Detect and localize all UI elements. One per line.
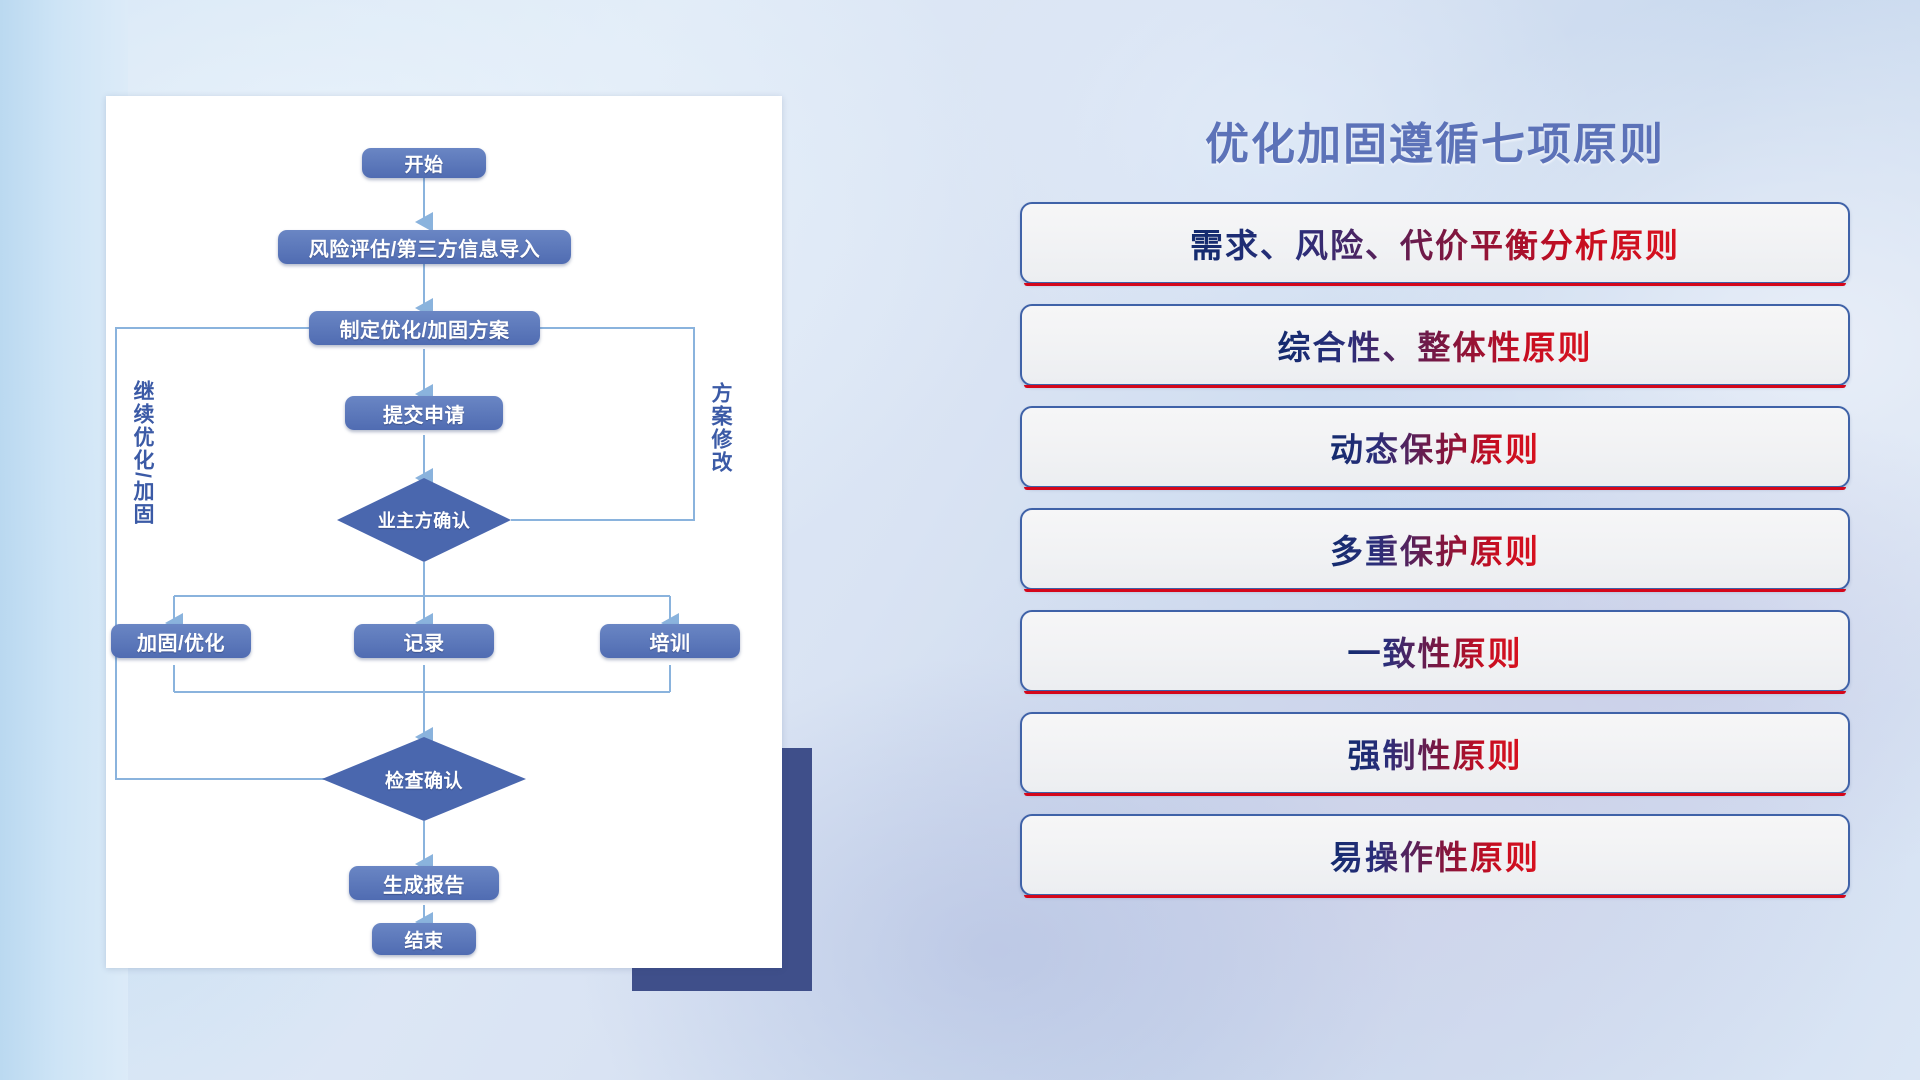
flow-node-label: 培训 xyxy=(650,627,691,656)
flow-node-risk-assessment[interactable]: 风险评估/第三方信息导入 xyxy=(278,230,571,264)
flow-edge-label-continue-optimize: 继续优化/加固 xyxy=(131,380,153,526)
principle-card[interactable]: 易操作性原则 xyxy=(1020,814,1850,896)
flow-node-label: 业主方确认 xyxy=(378,507,471,533)
flow-node-label: 制定优化/加固方案 xyxy=(339,314,509,343)
flow-edge-label-plan-revision: 方案修改 xyxy=(709,382,731,474)
principle-card[interactable]: 需求、风险、代价平衡分析原则 xyxy=(1020,202,1850,284)
principle-label: 动态保护原则 xyxy=(1330,423,1540,471)
flow-node-label: 风险评估/第三方信息导入 xyxy=(309,233,541,262)
flow-node-end[interactable]: 结束 xyxy=(372,923,476,955)
principle-card[interactable]: 多重保护原则 xyxy=(1020,508,1850,590)
principles-list: 需求、风险、代价平衡分析原则 综合性、整体性原则 动态保护原则 多重保护原则 一… xyxy=(1020,202,1850,916)
flow-node-label: 开始 xyxy=(404,150,443,177)
flow-node-label: 提交申请 xyxy=(383,399,465,428)
flow-node-label: 记录 xyxy=(404,627,445,656)
flow-node-label: 加固/优化 xyxy=(137,627,225,656)
flow-node-record[interactable]: 记录 xyxy=(354,624,494,658)
flow-node-owner-confirm[interactable]: 业主方确认 xyxy=(337,504,511,536)
flow-node-check-confirm[interactable]: 检查确认 xyxy=(337,763,511,795)
principles-panel: 优化加固遵循七项原则 需求、风险、代价平衡分析原则 综合性、整体性原则 动态保护… xyxy=(1020,92,1850,1012)
principle-label: 需求、风险、代价平衡分析原则 xyxy=(1190,219,1680,267)
flow-node-start[interactable]: 开始 xyxy=(362,148,486,178)
principle-label: 一致性原则 xyxy=(1348,627,1523,675)
principle-label: 多重保护原则 xyxy=(1330,525,1540,573)
flow-node-reinforce[interactable]: 加固/优化 xyxy=(111,624,251,658)
flowchart-panel: 开始 风险评估/第三方信息导入 制定优化/加固方案 提交申请 业主方确认 加固/… xyxy=(106,96,782,968)
flow-node-label: 检查确认 xyxy=(385,766,463,793)
principle-card[interactable]: 一致性原则 xyxy=(1020,610,1850,692)
flow-node-label: 结束 xyxy=(404,926,443,953)
principle-label: 强制性原则 xyxy=(1348,729,1523,777)
principle-card[interactable]: 强制性原则 xyxy=(1020,712,1850,794)
page-title: 优化加固遵循七项原则 xyxy=(1020,108,1850,172)
principle-label: 易操作性原则 xyxy=(1330,831,1540,879)
flow-node-submit[interactable]: 提交申请 xyxy=(345,396,503,430)
principle-card[interactable]: 动态保护原则 xyxy=(1020,406,1850,488)
flow-node-plan[interactable]: 制定优化/加固方案 xyxy=(309,311,540,345)
flow-node-label: 生成报告 xyxy=(383,869,465,898)
principle-label: 综合性、整体性原则 xyxy=(1278,321,1593,369)
flow-node-generate-report[interactable]: 生成报告 xyxy=(349,866,499,900)
flow-node-training[interactable]: 培训 xyxy=(600,624,740,658)
principle-card[interactable]: 综合性、整体性原则 xyxy=(1020,304,1850,386)
